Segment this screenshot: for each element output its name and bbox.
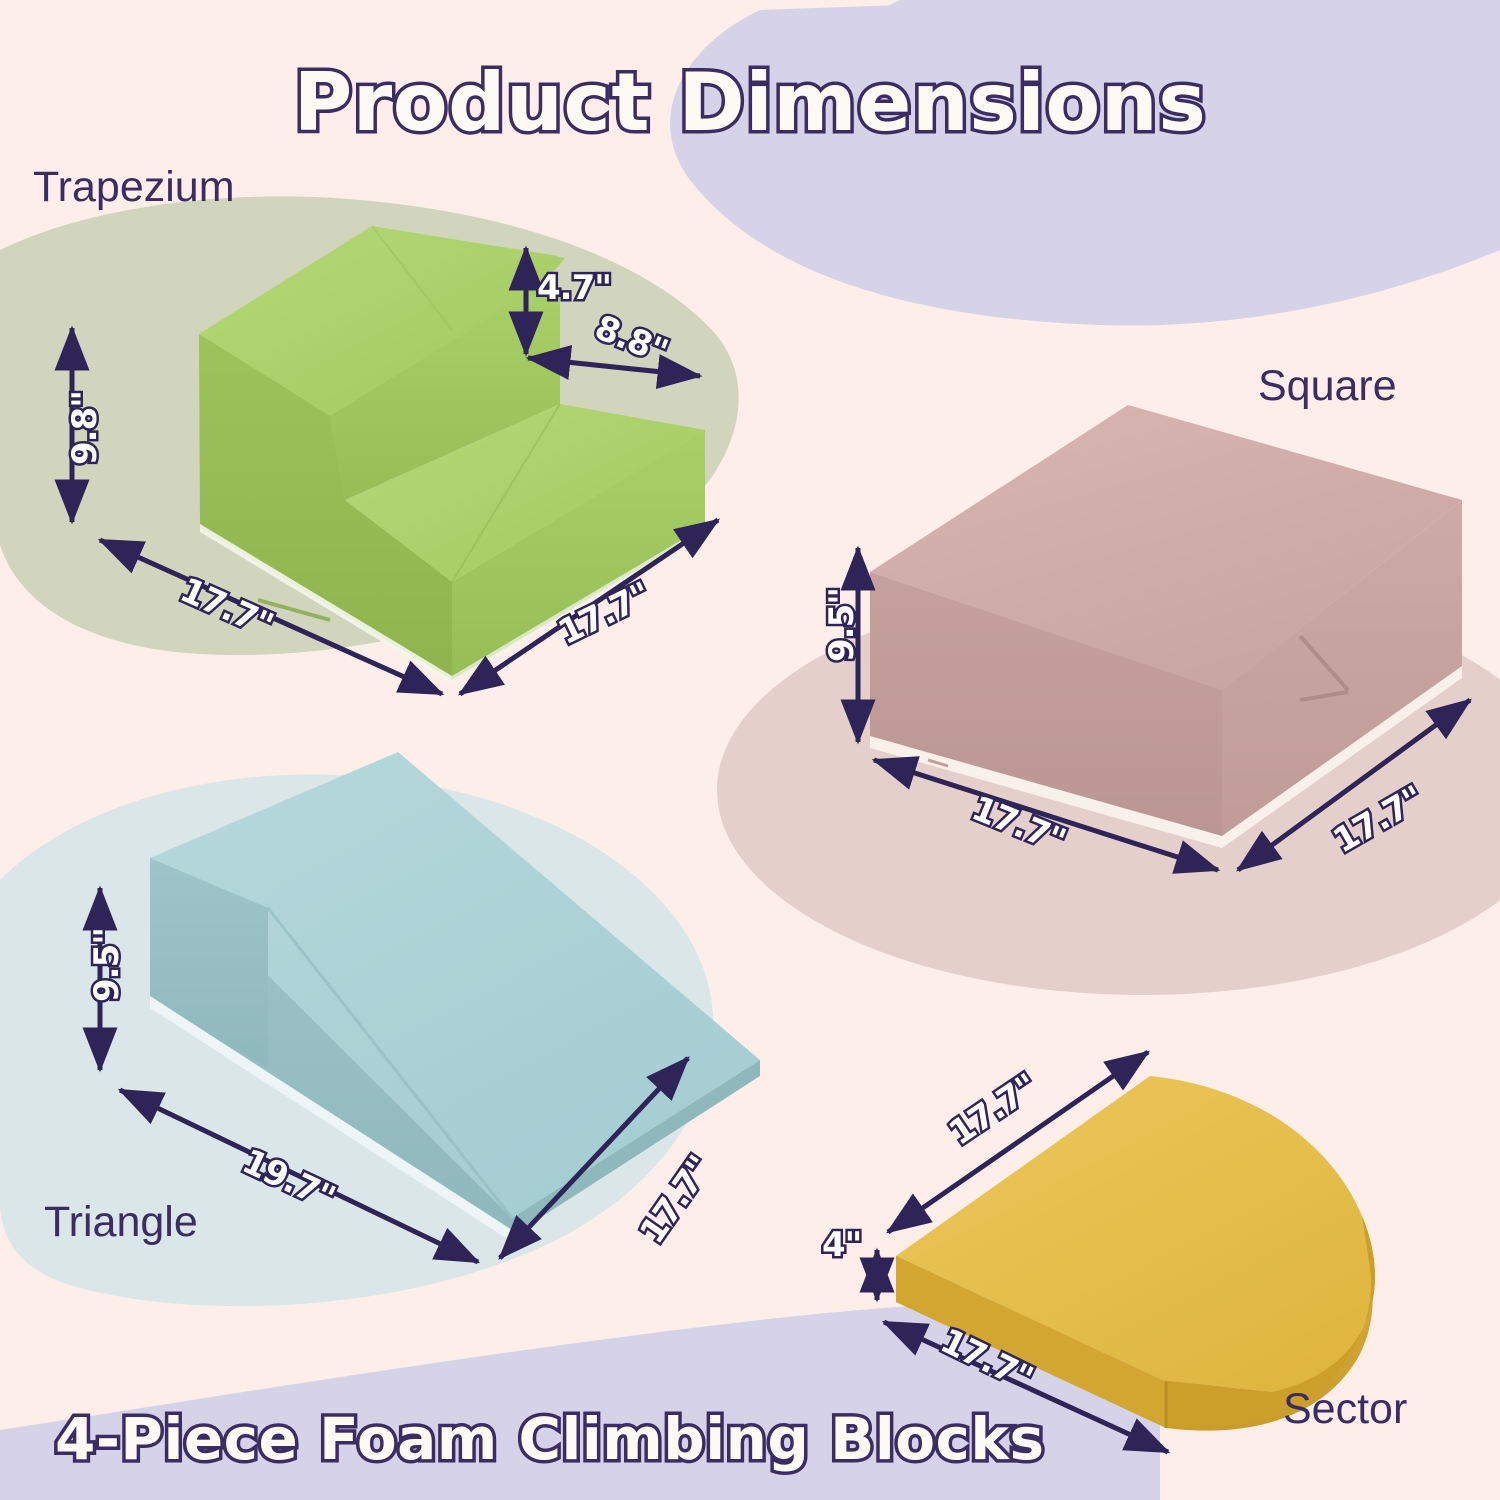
dimension-square-height: 9.5" (822, 588, 862, 662)
dimension-sector-thickness: 4" (822, 1225, 861, 1265)
dimension-triangle-height: 9.5" (87, 928, 127, 1002)
shape-label-trapezium: Trapezium (33, 163, 235, 212)
shape-label-triangle: Triangle (44, 1198, 198, 1247)
page-title: Product Dimensions (294, 56, 1207, 149)
dimension-trapezium-total-height: 9.8" (65, 391, 105, 465)
shape-label-square: Square (1258, 362, 1397, 411)
shape-label-sector: Sector (1283, 1385, 1407, 1434)
dimension-trapezium-step-height: 4.7" (537, 268, 611, 308)
product-illustrations (0, 0, 1500, 1500)
footer-caption: 4-Piece Foam Climbing Blocks (55, 1405, 1045, 1473)
piece-square (870, 405, 1462, 848)
infographic-canvas: Product Dimensions 4-Piece Foam Climbing… (0, 0, 1500, 1500)
